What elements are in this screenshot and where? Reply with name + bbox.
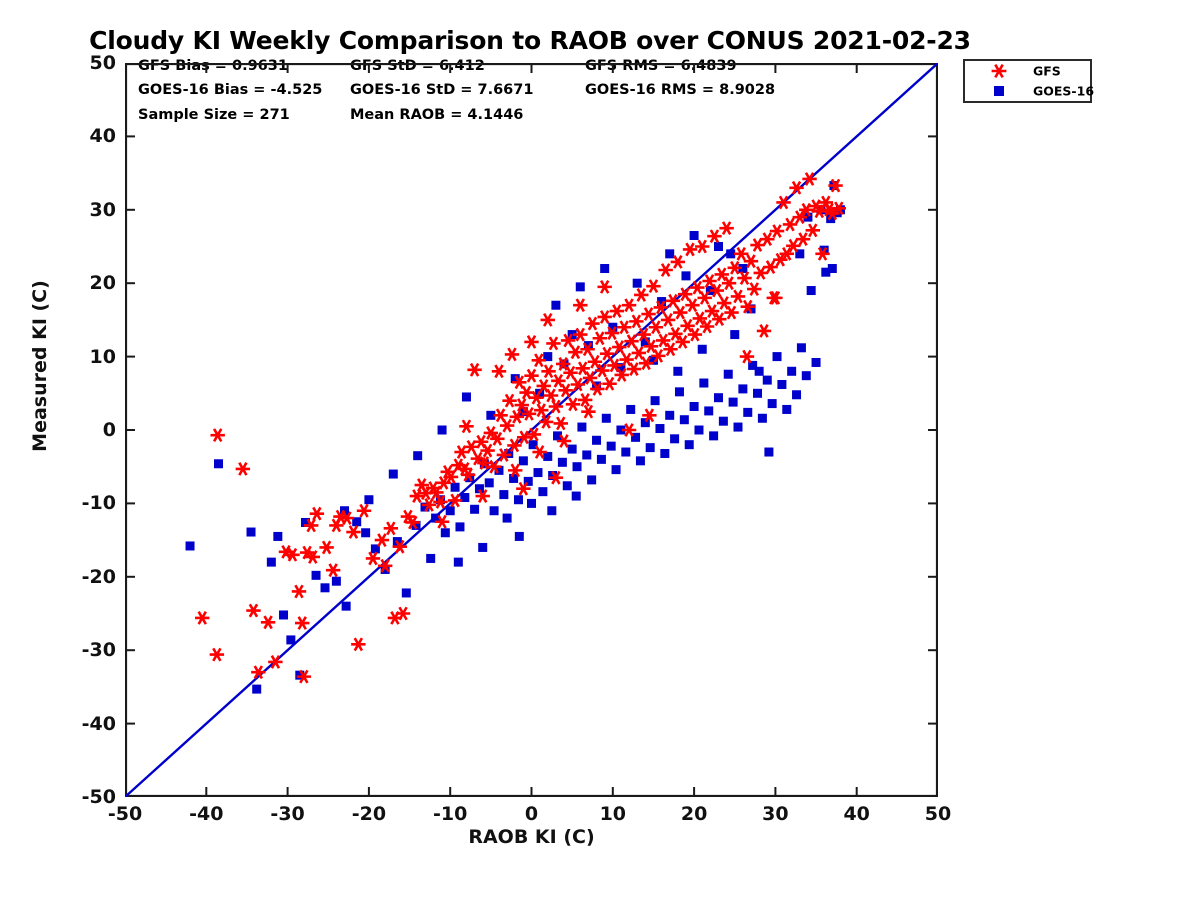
series-gfs (195, 173, 846, 683)
x-tick-label: 10 (600, 803, 626, 825)
x-tick-label: 50 (925, 803, 951, 825)
y-tick-label: -10 (40, 492, 116, 514)
legend-entry: GFS (965, 61, 1090, 81)
x-tick-label: -30 (270, 803, 304, 825)
legend-entry: GOES-16 (965, 81, 1090, 101)
page-title: Cloudy KI Weekly Comparison to RAOB over… (0, 26, 1060, 55)
plot-area (125, 63, 938, 797)
x-tick-label: 20 (681, 803, 707, 825)
y-tick-label: 10 (40, 346, 116, 368)
x-tick-label: -20 (352, 803, 386, 825)
data-points-layer (125, 63, 938, 797)
y-tick-label: -50 (40, 786, 116, 808)
y-tick-label: 0 (40, 419, 116, 441)
x-tick-label: 30 (762, 803, 788, 825)
x-tick-label: -50 (108, 803, 142, 825)
legend-label: GFS (1033, 64, 1061, 79)
x-tick-label: 40 (843, 803, 869, 825)
y-tick-label: -40 (40, 713, 116, 735)
series-goes-16 (186, 181, 845, 694)
y-tick-label: 40 (40, 125, 116, 147)
y-tick-label: 50 (40, 52, 116, 74)
x-tick-label: 0 (525, 803, 538, 825)
y-tick-label: -30 (40, 639, 116, 661)
chart-figure: Cloudy KI Weekly Comparison to RAOB over… (0, 0, 1200, 900)
x-axis-label: RAOB KI (C) (125, 826, 938, 848)
x-tick-label: -10 (433, 803, 467, 825)
legend-label: GOES-16 (1033, 84, 1094, 99)
y-tick-label: 20 (40, 272, 116, 294)
y-tick-label: -20 (40, 566, 116, 588)
y-tick-label: 30 (40, 199, 116, 221)
chart-legend: GFSGOES-16 (963, 59, 1092, 103)
asterisk-marker (990, 62, 1008, 80)
square-marker (994, 86, 1004, 96)
x-tick-label: -40 (189, 803, 223, 825)
